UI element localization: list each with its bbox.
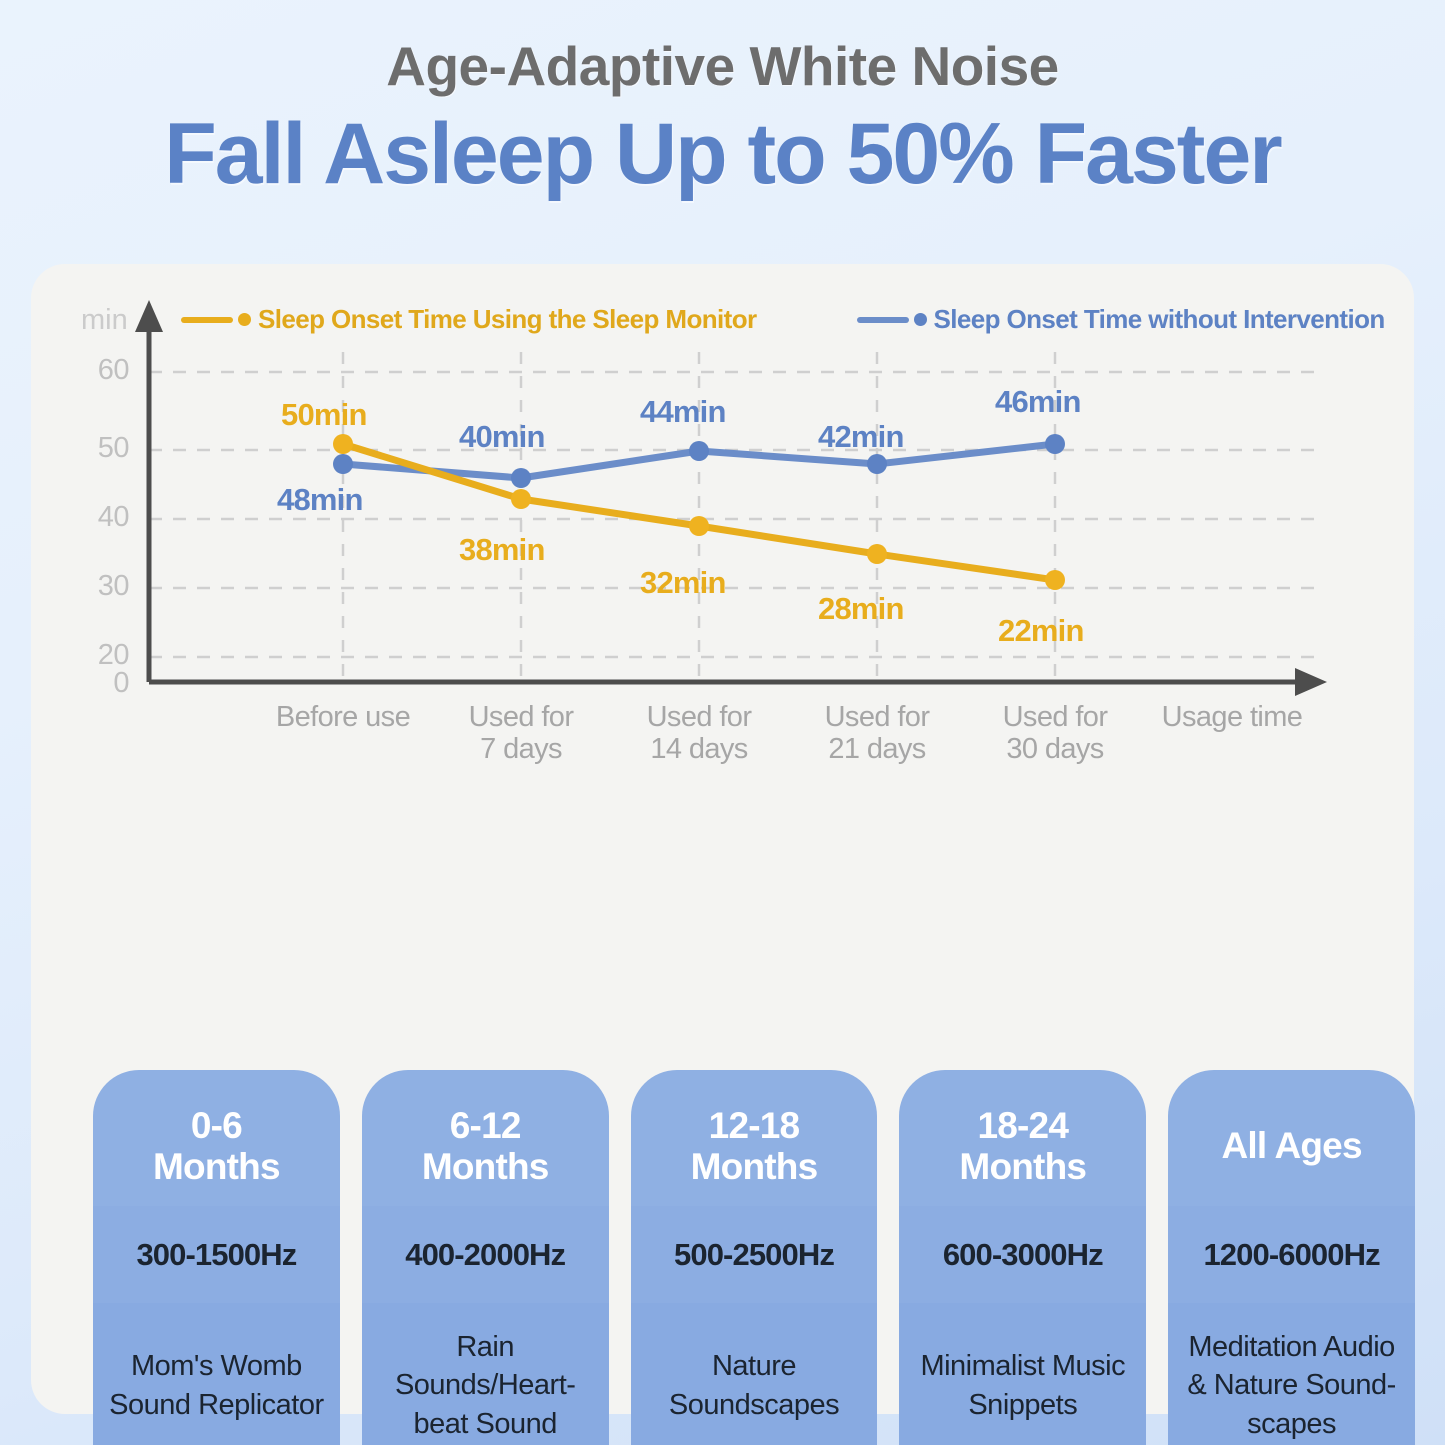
y-axis — [135, 300, 163, 682]
age-card-12-18-months[interactable]: 12-18 Months 500-2500Hz Nature Soundscap… — [631, 1070, 878, 1445]
card-sound-label: Minimalist Music Snippets — [899, 1303, 1146, 1445]
data-label-no-intervention-3: 42min — [818, 419, 904, 455]
data-label-no-intervention-0: 48min — [277, 482, 363, 518]
page-kicker: Age-Adaptive White Noise — [0, 38, 1445, 96]
age-card-row: 0-6 Months 300-1500Hz Mom's Womb Sound R… — [93, 1070, 1415, 1445]
x-axis — [149, 668, 1327, 696]
card-sound-label: Rain Sounds/Heart- beat Sound — [362, 1303, 609, 1445]
card-age-label: 0-6 Months — [93, 1070, 340, 1206]
sleep-onset-line-chart: Sleep Onset Time Using the Sleep Monitor… — [31, 264, 1414, 784]
content-panel: Sleep Onset Time Using the Sleep Monitor… — [31, 264, 1414, 1414]
data-label-monitor-2: 32min — [640, 565, 726, 601]
data-label-no-intervention-1: 40min — [459, 419, 545, 455]
series-line-monitor — [343, 444, 1055, 580]
page-title: Fall Asleep Up to 50% Faster — [0, 106, 1445, 202]
card-frequency-label: 600-3000Hz — [899, 1206, 1146, 1303]
card-frequency-label: 1200-6000Hz — [1168, 1206, 1415, 1303]
age-card-18-24-months[interactable]: 18-24 Months 600-3000Hz Minimalist Music… — [899, 1070, 1146, 1445]
card-age-label: 18-24 Months — [899, 1070, 1146, 1206]
data-label-no-intervention-2: 44min — [640, 394, 726, 430]
card-sound-label: Mom's Womb Sound Replicator — [93, 1303, 340, 1445]
y-tick-30: 30 — [59, 570, 129, 603]
age-card-6-12-months[interactable]: 6-12 Months 400-2000Hz Rain Sounds/Heart… — [362, 1070, 609, 1445]
age-card-all-ages[interactable]: All Ages 1200-6000Hz Meditation Audio & … — [1168, 1070, 1415, 1445]
card-age-label: 6-12 Months — [362, 1070, 609, 1206]
card-frequency-label: 500-2500Hz — [631, 1206, 878, 1303]
data-label-monitor-3: 28min — [818, 591, 904, 627]
card-frequency-label: 300-1500Hz — [93, 1206, 340, 1303]
data-label-monitor-0: 50min — [281, 397, 367, 433]
age-card-0-6-months[interactable]: 0-6 Months 300-1500Hz Mom's Womb Sound R… — [93, 1070, 340, 1445]
card-frequency-label: 400-2000Hz — [362, 1206, 609, 1303]
data-label-monitor-1: 38min — [459, 532, 545, 568]
data-label-monitor-4: 22min — [998, 613, 1084, 649]
card-age-label: All Ages — [1168, 1070, 1415, 1206]
data-label-no-intervention-4: 46min — [995, 384, 1081, 420]
card-sound-label: Nature Soundscapes — [631, 1303, 878, 1445]
card-sound-label: Meditation Audio & Nature Sound- scapes — [1168, 1303, 1415, 1445]
y-tick-0: 0 — [59, 667, 129, 700]
x-axis-title: Usage time — [1127, 701, 1337, 733]
infographic-page: Age-Adaptive White Noise Fall Asleep Up … — [0, 0, 1445, 1445]
header: Age-Adaptive White Noise Fall Asleep Up … — [0, 0, 1445, 202]
y-tick-40: 40 — [59, 501, 129, 534]
y-tick-50: 50 — [59, 432, 129, 465]
y-tick-60: 60 — [59, 354, 129, 387]
card-age-label: 12-18 Months — [631, 1070, 878, 1206]
